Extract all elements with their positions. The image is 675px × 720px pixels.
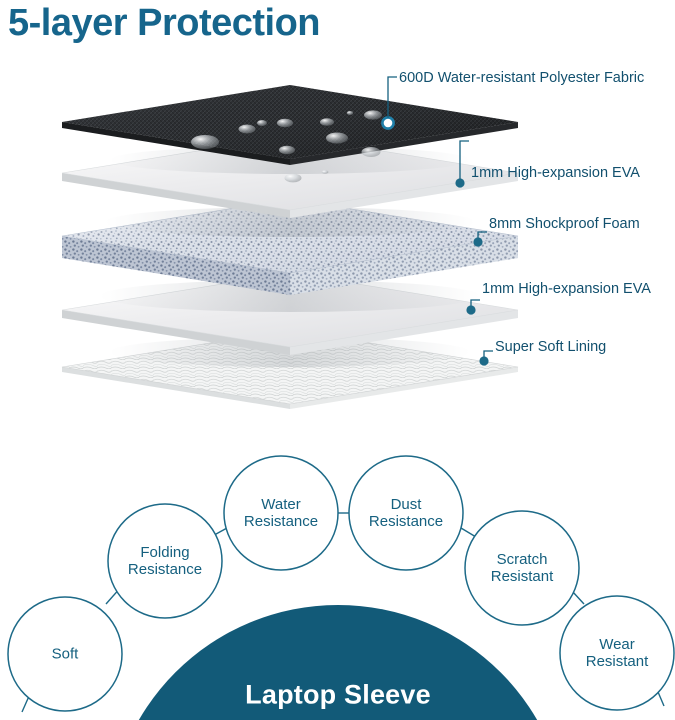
feature-circle-arc xyxy=(0,0,675,720)
feature-label-folding: Folding Resistance xyxy=(128,544,202,578)
feature-label-scratch: Scratch Resistant xyxy=(491,551,554,585)
infographic-root: 5-layer Protection xyxy=(0,0,675,720)
banner-label: Laptop Sleeve xyxy=(245,680,431,711)
feature-label-dust: Dust Resistance xyxy=(369,496,443,530)
feature-label-soft: Soft xyxy=(52,645,79,662)
feature-label-water: Water Resistance xyxy=(244,496,318,530)
feature-label-wear: Wear Resistant xyxy=(586,636,649,670)
